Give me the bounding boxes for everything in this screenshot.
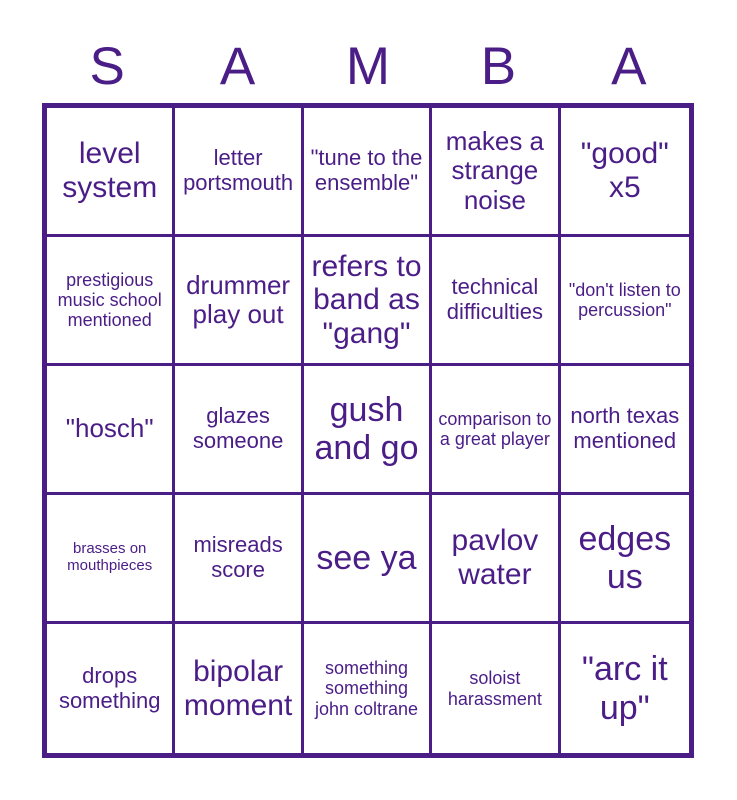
bingo-cell-r4-c3[interactable]: see ya (304, 495, 432, 624)
bingo-cell-r2-c5[interactable]: "don't listen to percussion" (561, 237, 689, 366)
bingo-header-letter-4: A (611, 40, 646, 93)
bingo-cell-r4-c5[interactable]: edges us (561, 495, 689, 624)
bingo-cell-label: soloist harassment (437, 668, 552, 708)
bingo-cell-label: something something john coltrane (309, 658, 424, 718)
bingo-cell-r3-c2[interactable]: glazes someone (175, 366, 303, 495)
bingo-cell-r1-c1[interactable]: level system (47, 108, 175, 237)
bingo-grid: level systemletter portsmouth"tune to th… (42, 103, 694, 758)
bingo-header-letter-1: A (220, 40, 255, 93)
bingo-cell-label: prestigious music school mentioned (52, 270, 167, 330)
bingo-cell-r1-c2[interactable]: letter portsmouth (175, 108, 303, 237)
bingo-cell-r2-c4[interactable]: technical difficulties (432, 237, 560, 366)
bingo-cell-label: misreads score (180, 533, 295, 582)
bingo-cell-label: "good" x5 (566, 137, 684, 204)
bingo-cell-label: "arc it up" (566, 650, 684, 726)
bingo-cell-label: letter portsmouth (180, 146, 295, 195)
bingo-cell-r1-c5[interactable]: "good" x5 (561, 108, 689, 237)
bingo-cell-label: brasses on mouthpieces (52, 541, 167, 575)
bingo-cell-r5-c1[interactable]: drops something (47, 624, 175, 753)
bingo-card: SAMBA level systemletter portsmouth"tune… (0, 0, 737, 800)
bingo-cell-r4-c2[interactable]: misreads score (175, 495, 303, 624)
bingo-header-letter-2: M (346, 40, 390, 93)
bingo-cell-label: north texas mentioned (566, 404, 684, 453)
bingo-cell-label: see ya (309, 539, 424, 577)
bingo-cell-label: refers to band as "gang" (309, 250, 424, 351)
bingo-cell-r4-c4[interactable]: pavlov water (432, 495, 560, 624)
bingo-cell-r4-c1[interactable]: brasses on mouthpieces (47, 495, 175, 624)
bingo-cell-r5-c5[interactable]: "arc it up" (561, 624, 689, 753)
bingo-cell-r3-c3[interactable]: gush and go (304, 366, 432, 495)
bingo-cell-r3-c1[interactable]: "hosch" (47, 366, 175, 495)
bingo-cell-label: pavlov water (437, 524, 552, 591)
bingo-cell-r2-c2[interactable]: drummer play out (175, 237, 303, 366)
bingo-cell-r5-c3[interactable]: something something john coltrane (304, 624, 432, 753)
bingo-cell-r2-c3[interactable]: refers to band as "gang" (304, 237, 432, 366)
bingo-cell-label: "tune to the ensemble" (309, 146, 424, 195)
bingo-cell-r5-c4[interactable]: soloist harassment (432, 624, 560, 753)
bingo-cell-label: drummer play out (180, 271, 295, 329)
bingo-cell-label: level system (52, 137, 167, 204)
bingo-cell-r5-c2[interactable]: bipolar moment (175, 624, 303, 753)
bingo-cell-label: glazes someone (180, 404, 295, 453)
bingo-cell-label: drops something (52, 664, 167, 713)
bingo-cell-label: makes a strange noise (437, 127, 552, 214)
bingo-header-letters: SAMBA (42, 30, 694, 103)
bingo-cell-label: "hosch" (52, 414, 167, 443)
bingo-cell-r1-c3[interactable]: "tune to the ensemble" (304, 108, 432, 237)
bingo-cell-r2-c1[interactable]: prestigious music school mentioned (47, 237, 175, 366)
bingo-cell-label: bipolar moment (180, 655, 295, 722)
bingo-cell-label: technical difficulties (437, 275, 552, 324)
bingo-cell-r1-c4[interactable]: makes a strange noise (432, 108, 560, 237)
bingo-cell-label: edges us (566, 520, 684, 596)
bingo-header-letter-0: S (90, 40, 125, 93)
bingo-cell-label: gush and go (309, 391, 424, 467)
bingo-cell-r3-c5[interactable]: north texas mentioned (561, 366, 689, 495)
bingo-cell-label: comparison to a great player (437, 409, 552, 449)
bingo-cell-r3-c4[interactable]: comparison to a great player (432, 366, 560, 495)
bingo-cell-label: "don't listen to percussion" (566, 280, 684, 320)
bingo-header-letter-3: B (481, 40, 516, 93)
